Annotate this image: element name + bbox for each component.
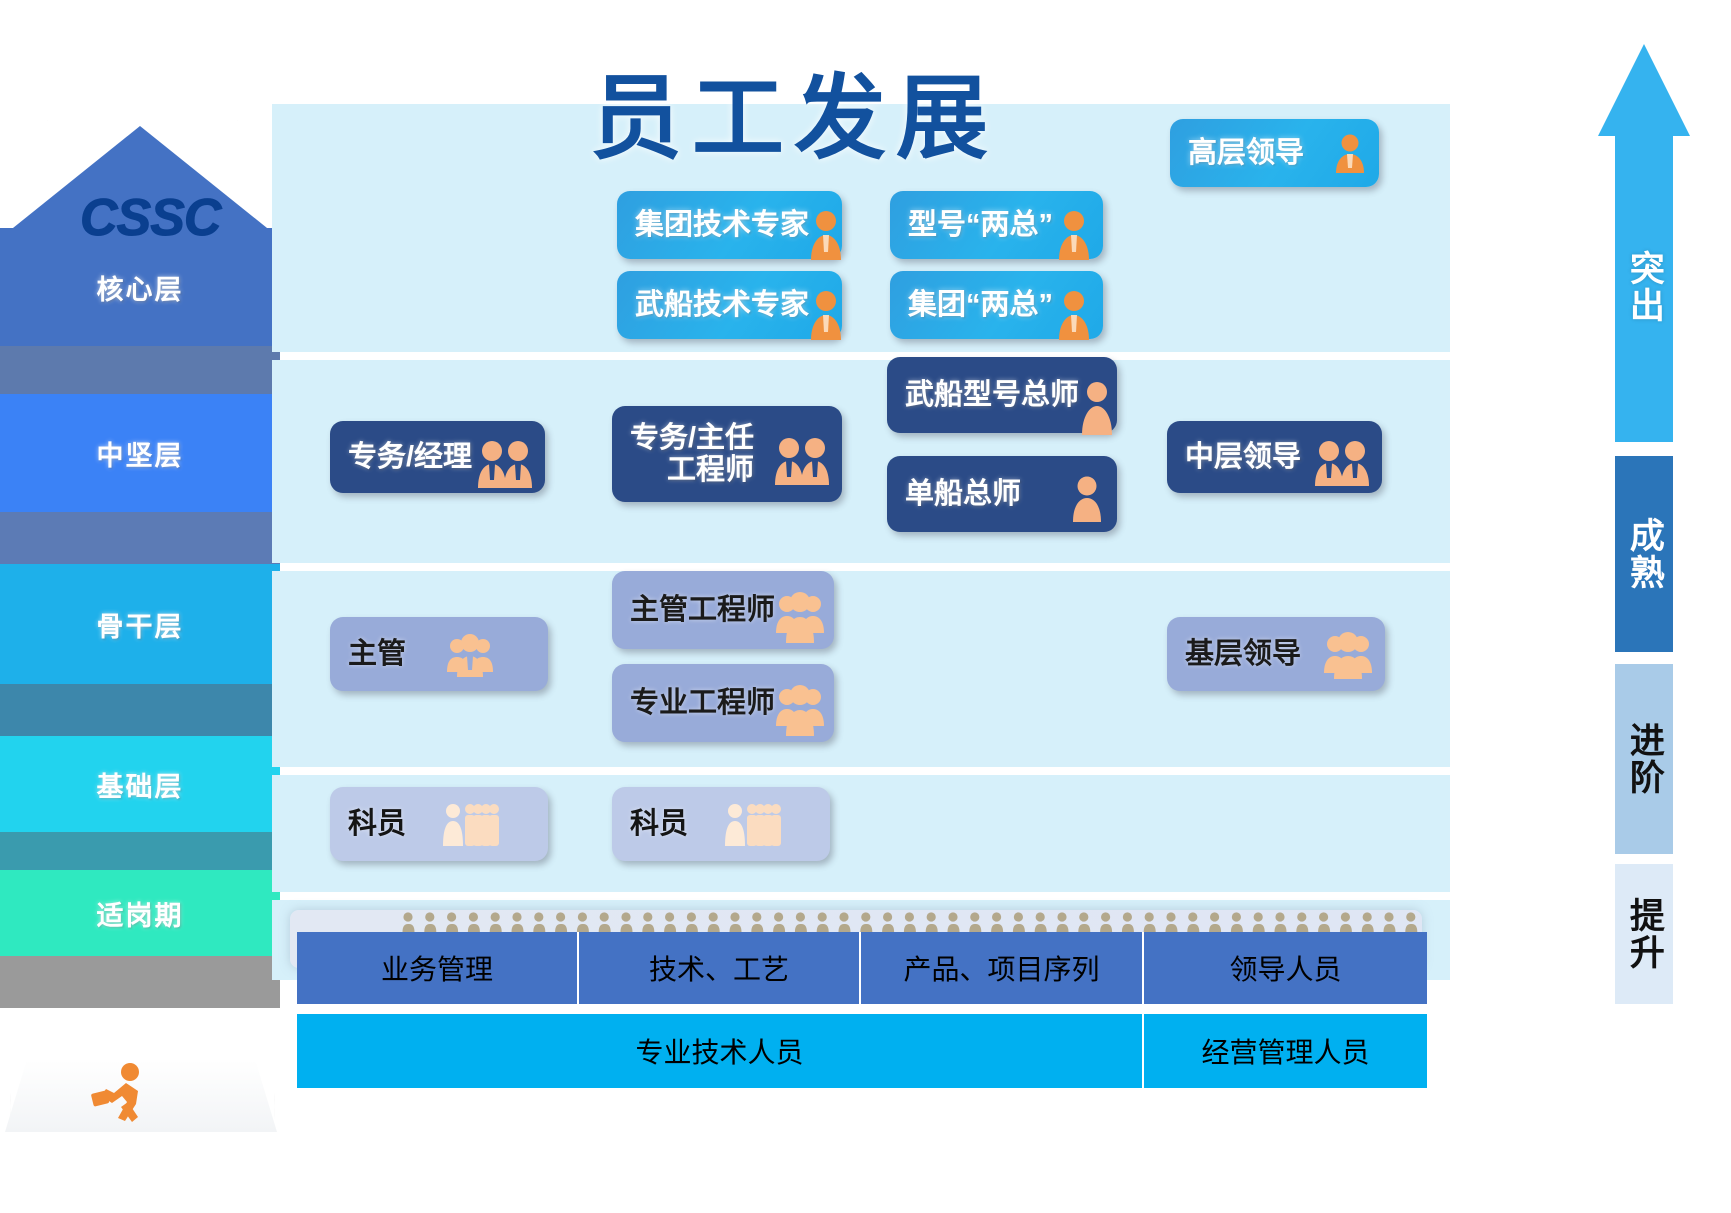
card-label: 科员: [348, 808, 406, 840]
single-person-icon: [1333, 133, 1367, 173]
pyramid-level-label: 骨干层: [97, 605, 184, 644]
footer-cell[interactable]: 经营管理人员: [1144, 1014, 1427, 1088]
pyramid-level-label: 适岗期: [97, 894, 184, 933]
stage-label: 提升: [1626, 897, 1662, 971]
card-clerk-technical[interactable]: 科员: [330, 787, 548, 861]
page-title: 员工发展: [590, 44, 998, 177]
card-label: 基层领导: [1185, 638, 1301, 670]
card-professional-engineer[interactable]: 专业工程师: [612, 664, 834, 742]
career-pyramid: 核心层 中坚层 骨干层 基础层 适岗期: [0, 120, 280, 1120]
card-label: 主管: [348, 638, 406, 670]
card-label: 专业工程师: [630, 687, 775, 719]
pyramid-level-adaptation: 适岗期: [0, 870, 280, 956]
three-people-icon: [775, 589, 825, 631]
pyramid-level-backbone: 骨干层: [0, 564, 280, 684]
stage-mature: 成熟: [1615, 456, 1673, 652]
card-specialist-chief-engineer[interactable]: 专务/主任 工程师: [612, 406, 842, 502]
pyramid-level-base: 基础层: [0, 736, 280, 832]
arrow-up-icon: [1598, 44, 1690, 136]
card-label: 高层领导: [1188, 137, 1304, 169]
card-single-ship-chief[interactable]: 单船总师: [887, 456, 1117, 532]
footer-row-categories: 业务管理 技术、工艺 产品、项目序列 领导人员: [297, 932, 1427, 1004]
card-label: 科员: [630, 808, 688, 840]
footer-cell[interactable]: 技术、工艺: [579, 932, 861, 1004]
employee-development-panel: 员工发展 集团技术专家 武船技术专家 型号“两总”: [272, 104, 1450, 924]
footer-cell[interactable]: 业务管理: [297, 932, 579, 1004]
stage-advanced: 进阶: [1615, 664, 1673, 854]
footer-cell[interactable]: 产品、项目序列: [861, 932, 1144, 1004]
crowd-icon: [440, 800, 510, 848]
footer-cell[interactable]: 专业技术人员: [297, 1014, 1144, 1088]
pyramid-level-label: 基础层: [97, 765, 184, 804]
card-label: 专务/主任 工程师: [630, 422, 754, 487]
two-people-icon: [774, 435, 830, 473]
card-label: 型号“两总”: [908, 209, 1053, 241]
card-middle-leader[interactable]: 中层领导: [1167, 421, 1382, 493]
three-people-icon: [775, 682, 825, 724]
footer-row-personnel: 专业技术人员 经营管理人员: [297, 1014, 1427, 1088]
stage-improve: 提升: [1615, 864, 1673, 1004]
pyramid-level-label: 核心层: [97, 268, 184, 307]
card-label: 集团“两总”: [908, 289, 1053, 321]
three-people-icon: [446, 630, 494, 678]
single-person-icon: [1079, 379, 1115, 411]
card-lead-engineer[interactable]: 主管工程师: [612, 571, 834, 649]
card-group-two-chiefs[interactable]: 集团“两总”: [890, 271, 1103, 339]
card-specialist-manager[interactable]: 专务/经理: [330, 421, 545, 493]
stage-label: 进阶: [1626, 722, 1662, 796]
card-label: 集团技术专家: [635, 209, 809, 241]
three-people-icon: [1323, 629, 1373, 679]
stage-outstanding: 突出: [1615, 132, 1673, 442]
stage-label: 突出: [1626, 250, 1662, 324]
single-person-icon: [809, 288, 843, 322]
card-senior-leader[interactable]: 高层领导: [1170, 119, 1379, 187]
two-people-icon: [477, 438, 533, 476]
card-label: 单船总师: [905, 478, 1021, 510]
pyramid-level-label: 中坚层: [97, 434, 184, 473]
card-label: 主管工程师: [630, 594, 775, 626]
pyramid-riser-2: [0, 512, 280, 564]
running-person-icon: [88, 1060, 152, 1126]
card-label: 中层领导: [1185, 441, 1301, 473]
stage-label: 成熟: [1626, 517, 1662, 591]
cssc-logo: CSSC: [80, 188, 220, 248]
single-person-icon: [809, 208, 843, 242]
pyramid-riser-1: [0, 346, 280, 394]
crowd-icon: [722, 800, 792, 848]
pyramid-level-middle: 中坚层: [0, 394, 280, 512]
pyramid-riser-3: [0, 684, 280, 736]
footer-cell[interactable]: 领导人员: [1144, 932, 1427, 1004]
card-grassroots-leader[interactable]: 基层领导: [1167, 617, 1385, 691]
pyramid-riser-5: [0, 956, 280, 1008]
card-group-tech-expert[interactable]: 集团技术专家: [617, 191, 842, 259]
growth-stage-arrow: 突出 成熟 进阶 提升: [1600, 104, 1690, 904]
card-supervisor[interactable]: 主管: [330, 617, 548, 691]
card-label: 专务/经理: [348, 441, 472, 473]
card-wuchuan-model-chief[interactable]: 武船型号总师: [887, 357, 1117, 433]
card-model-two-chiefs[interactable]: 型号“两总”: [890, 191, 1103, 259]
card-label: 武船技术专家: [635, 289, 809, 321]
card-label: 武船型号总师: [905, 379, 1079, 411]
single-person-icon: [1057, 208, 1091, 242]
pyramid-riser-4: [0, 832, 280, 870]
single-person-icon: [1069, 474, 1105, 514]
card-clerk-management[interactable]: 科员: [612, 787, 830, 861]
single-person-icon: [1057, 288, 1091, 322]
card-wuchuan-tech-expert[interactable]: 武船技术专家: [617, 271, 842, 339]
two-people-icon: [1314, 438, 1370, 476]
